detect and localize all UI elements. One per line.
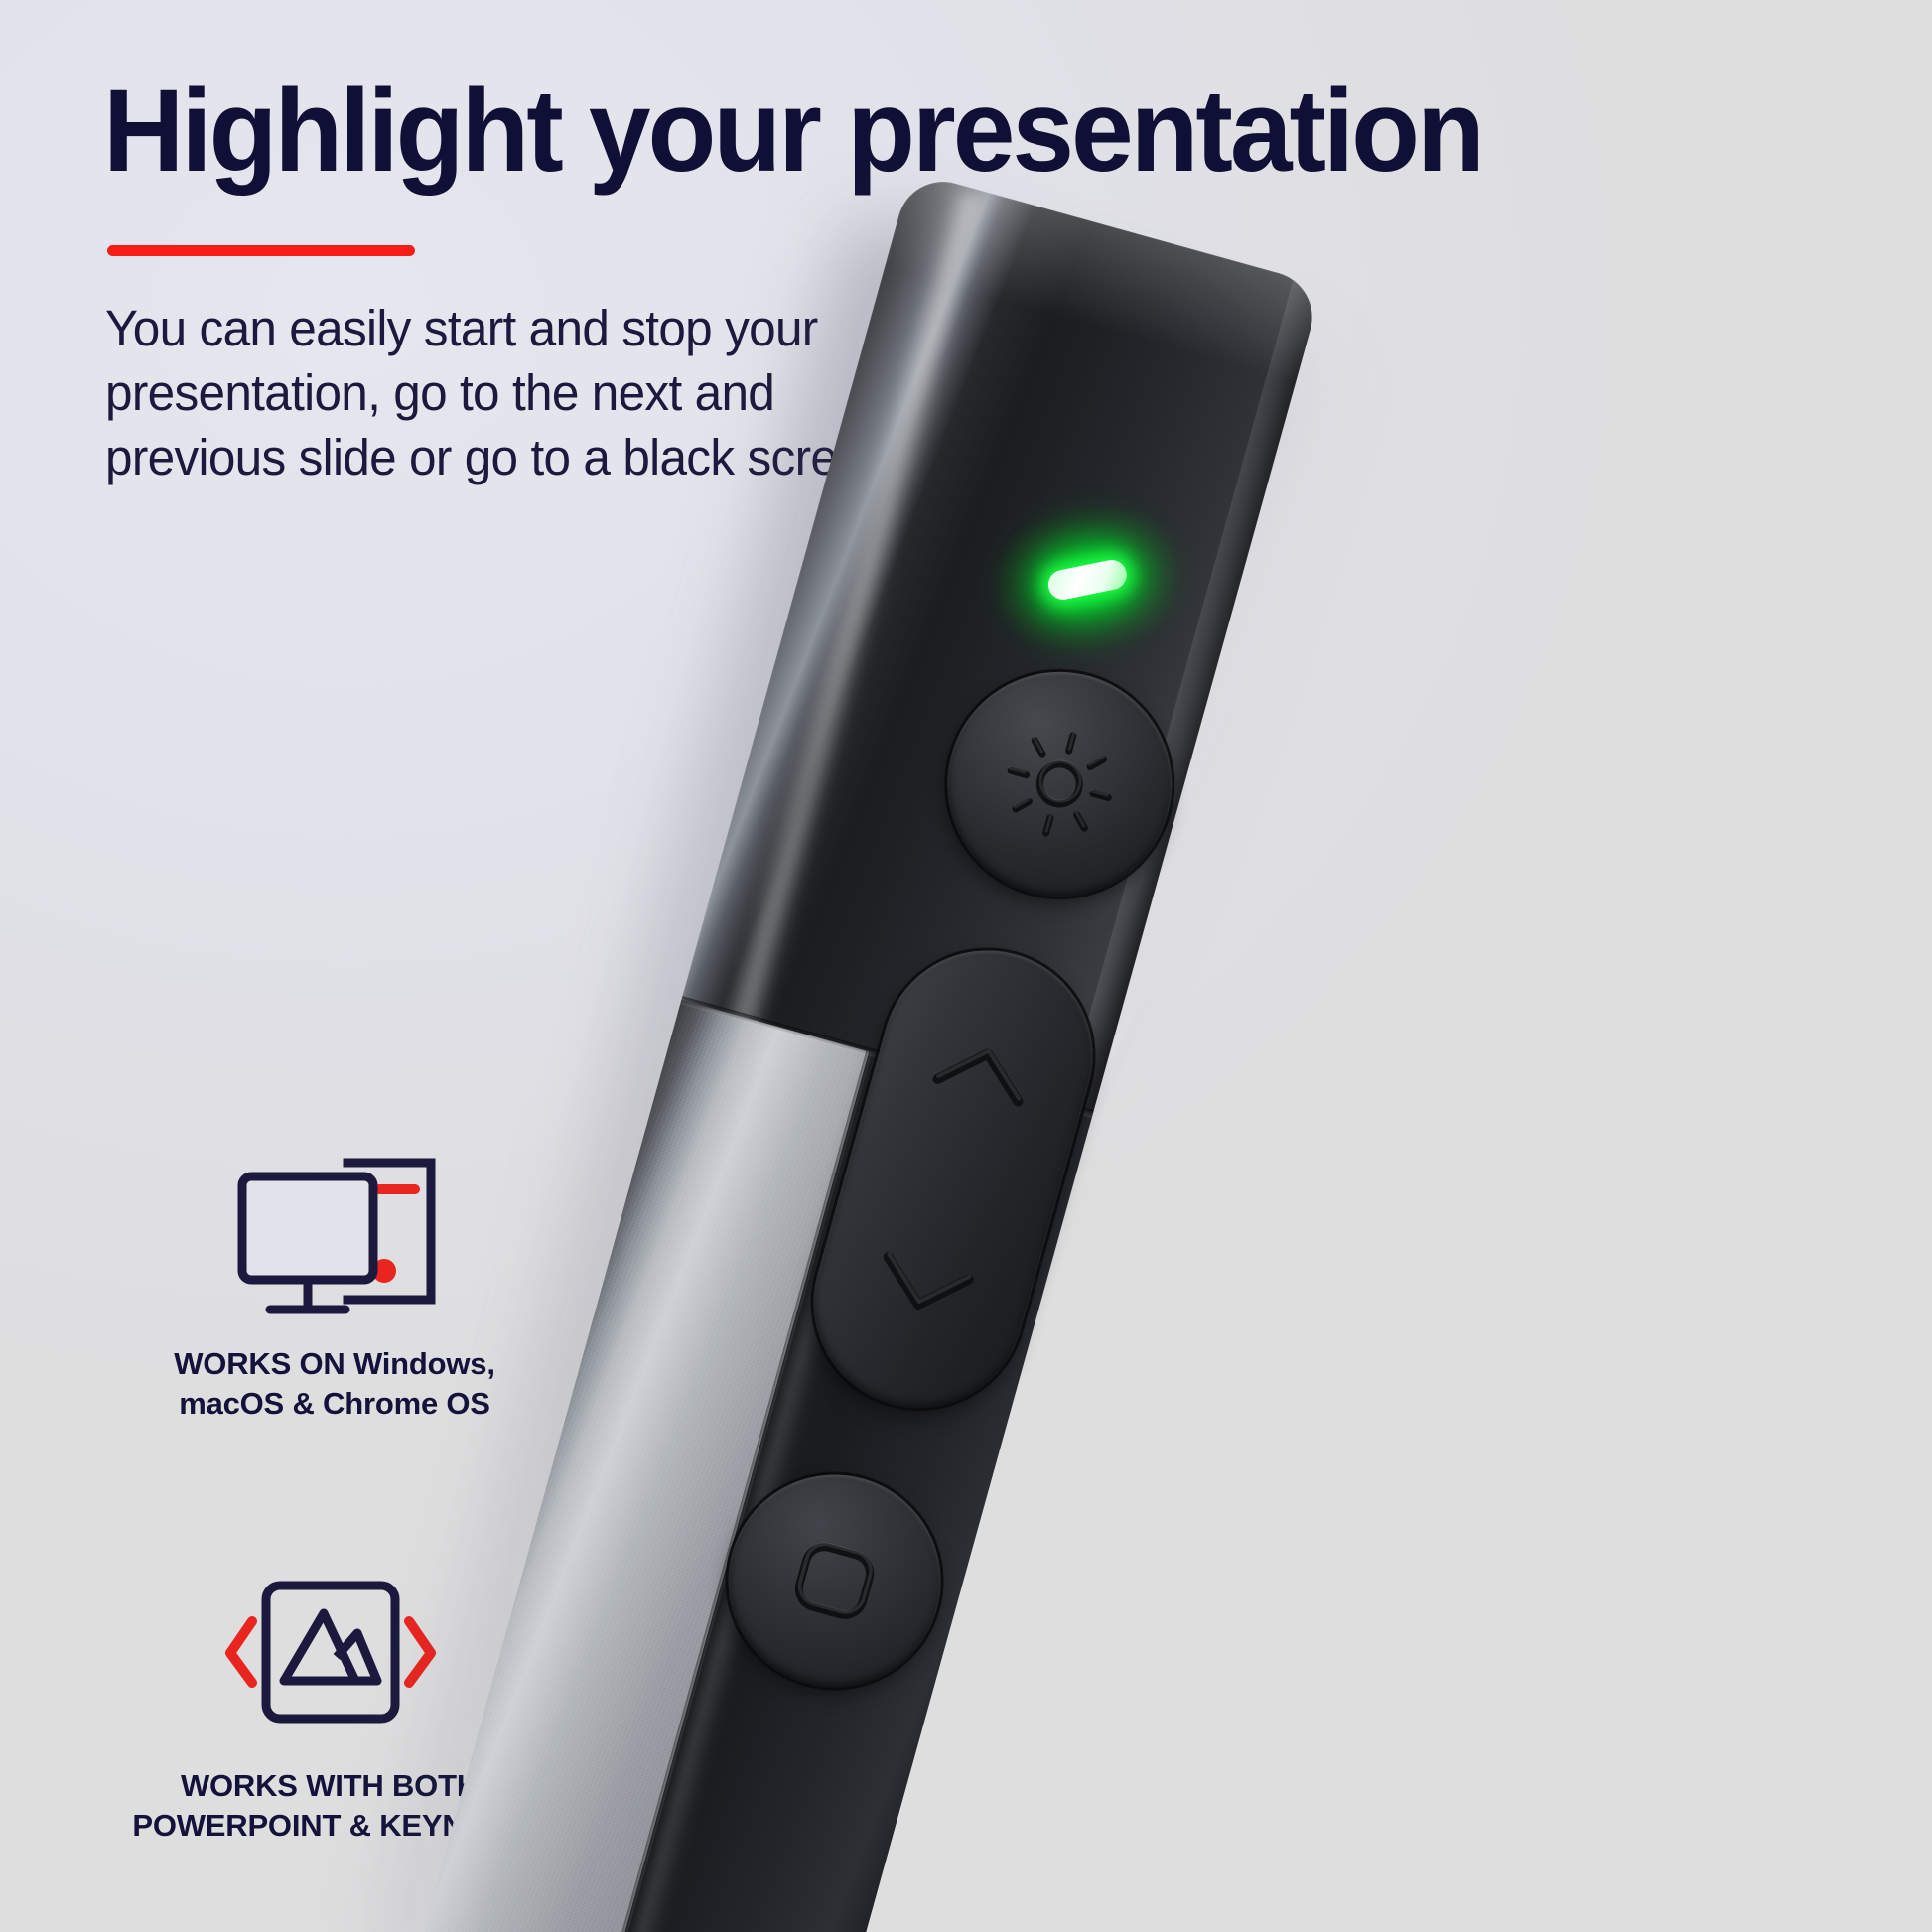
subtitle-line-3: previous slide or go to a black screen [105,425,1011,489]
icon-container [91,1132,578,1330]
caption-line-2: macOS & Chrome OS [91,1384,578,1424]
feature-app-support: WORKS WITH BOTH POWERPOINT & KEYNOTE [81,1554,578,1846]
subtitle-line-2: presentation, go to the next and [105,360,1011,425]
caption-line-1: WORKS WITH BOTH [81,1766,578,1806]
feature-os-support: WORKS ON Windows, macOS & Chrome OS [91,1132,578,1424]
caption-line-1: WORKS ON Windows, [91,1344,578,1384]
monitor-and-phone-icon [220,1141,449,1321]
feature-caption: WORKS ON Windows, macOS & Chrome OS [91,1344,578,1424]
slide-navigation-icon [207,1570,453,1736]
marketing-banner: Highlight your presentation You can easi… [0,0,1932,1932]
accent-bar [107,245,415,256]
page-title: Highlight your presentation [103,71,1810,191]
icon-container [81,1554,578,1752]
feature-caption: WORKS WITH BOTH POWERPOINT & KEYNOTE [81,1766,578,1846]
subtitle-line-1: You can easily start and stop your [105,296,1011,360]
caption-line-2: POWERPOINT & KEYNOTE [81,1806,578,1846]
subtitle: You can easily start and stop your prese… [105,296,1011,489]
